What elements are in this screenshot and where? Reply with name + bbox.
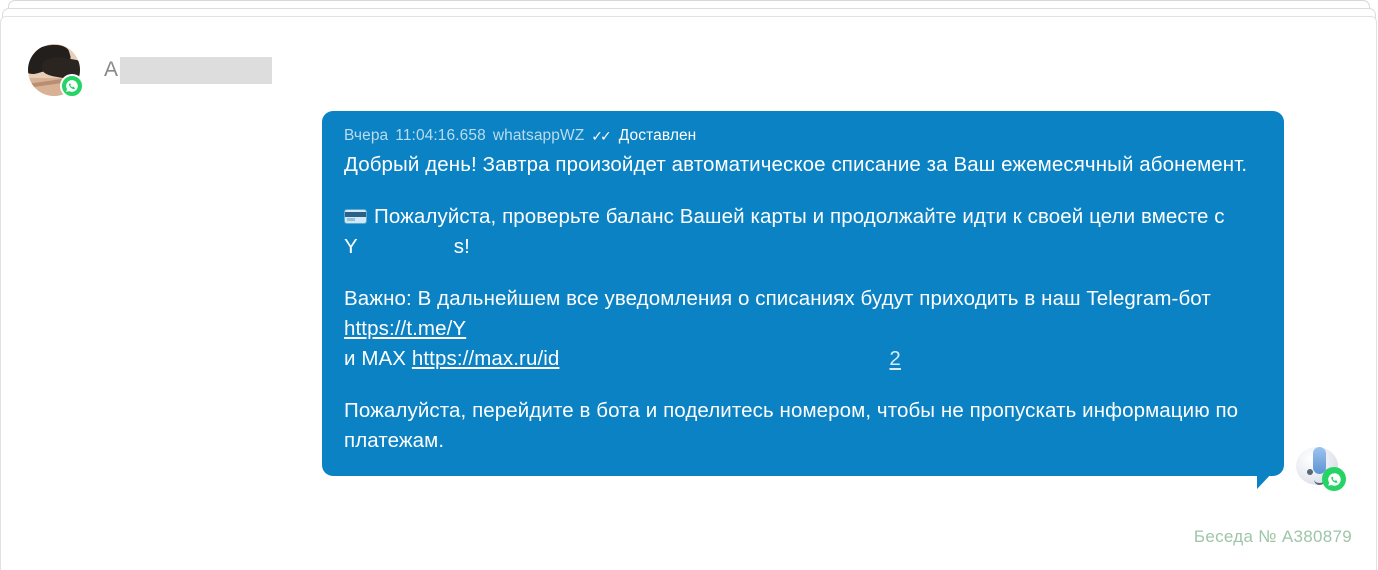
robot-eye-left: [1307, 469, 1313, 475]
max-link-line: и MAX https://max.ru/id2: [344, 347, 901, 370]
double-check-icon: ✓✓: [591, 128, 611, 145]
message-time: 11:04:16.658: [395, 127, 486, 145]
message-paragraph-2: Пожалуйста, проверьте баланс Вашей карты…: [344, 202, 1262, 262]
sender-name: A: [104, 57, 272, 84]
brand-name-prefix: Y: [344, 235, 358, 258]
message-body: Добрый день! Завтра произойдет автоматич…: [344, 150, 1262, 456]
message-channel: whatsappWZ: [493, 127, 584, 145]
robot-visor: [1313, 447, 1326, 474]
message-paragraph-3: Важно: В дальнейшем все уведомления о сп…: [344, 284, 1262, 374]
credit-card-icon: [344, 209, 367, 224]
max-prefix-label: и MAX: [344, 347, 406, 370]
message-date-label: Вчера: [344, 127, 388, 145]
brand-name-redaction-a: [358, 235, 454, 257]
avatar[interactable]: [28, 44, 80, 96]
telegram-bot-link[interactable]: https://t.me/Y: [344, 317, 466, 340]
message-status: Доставлен: [619, 127, 697, 145]
message-bubble-tail: [1257, 472, 1273, 489]
sender-name-visible-prefix: A: [104, 58, 118, 82]
message-paragraph-3-text: Важно: В дальнейшем все уведомления о сп…: [344, 287, 1211, 310]
max-link-redaction: [559, 363, 889, 365]
whatsapp-icon: [1322, 467, 1346, 491]
message-paragraph-1: Добрый день! Завтра произойдет автоматич…: [344, 150, 1262, 180]
sender-name-redaction: [120, 57, 272, 84]
conversation-number: Беседа № A380879: [1194, 527, 1352, 547]
message-paragraph-2-text: Пожалуйста, проверьте баланс Вашей карты…: [374, 205, 1225, 228]
max-link-tail[interactable]: 2: [889, 347, 901, 370]
max-link[interactable]: https://max.ru/id: [412, 347, 560, 370]
conversation-view: A Вчера 11:04:16.658 whatsappWZ ✓✓ Доста…: [0, 0, 1378, 570]
message-sender-row[interactable]: A: [28, 44, 272, 96]
message-bubble[interactable]: Вчера 11:04:16.658 whatsappWZ ✓✓ Доставл…: [322, 111, 1284, 476]
message-meta: Вчера 11:04:16.658 whatsappWZ ✓✓ Доставл…: [344, 127, 1262, 145]
bot-avatar[interactable]: [1294, 441, 1344, 491]
whatsapp-icon: [60, 74, 84, 98]
message-paragraph-4: Пожалуйста, перейдите в бота и поделитес…: [344, 396, 1262, 456]
brand-name-suffix: s!: [454, 235, 470, 258]
